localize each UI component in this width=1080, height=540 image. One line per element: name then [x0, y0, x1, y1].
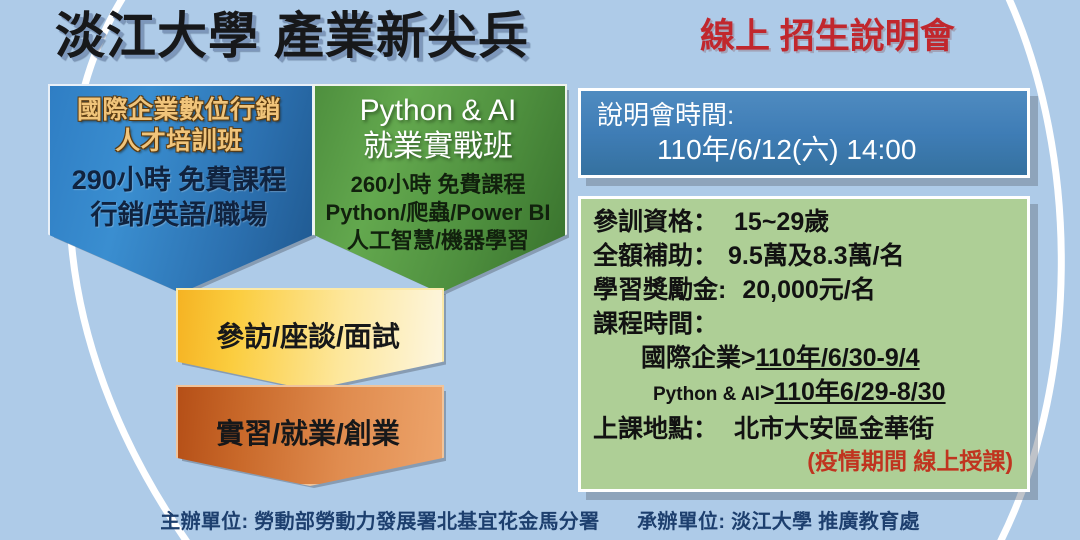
page-subtitle: 線上 招生說明會 — [700, 12, 1030, 62]
info-row-subsidy: 全額補助： 9.5萬及8.3萬/名 — [581, 239, 1027, 273]
program-body-line3: 人工智慧/機器學習 — [326, 227, 551, 255]
session-time-label: 說明會時間: — [597, 99, 1013, 132]
info-label: 學習獎勵金: — [593, 273, 726, 307]
course-date-row-python-ai: Python & AI > 110年6/29-8/30 — [581, 375, 1027, 412]
info-label: 全額補助： — [593, 239, 718, 273]
flow-step-label: 參訪/座談/面試 — [216, 320, 400, 354]
info-label: 參訓資格： — [593, 205, 718, 239]
program-body-line1: 260小時 免費課程 — [326, 171, 551, 199]
info-row-incentive: 學習獎勵金: 20,000元/名 — [581, 273, 1027, 307]
session-time-box: 說明會時間: 110年/6/12(六) 14:00 — [578, 88, 1030, 178]
poster-canvas: 淡江大學 產業新尖兵 線上 招生說明會 國際企業數位行銷 人才培訓班 290小時… — [0, 0, 1080, 540]
footer-organizer: 主辦單位: 勞動部勞動力發展署北基宜花金馬分署 — [160, 511, 599, 533]
program-info-box: 參訓資格： 15~29歲 全額補助： 9.5萬及8.3萬/名 學習獎勵金: 20… — [578, 196, 1030, 492]
info-row-course-time: 課程時間： — [581, 307, 1027, 341]
flow-step-label: 實習/就業/創業 — [216, 417, 400, 451]
flow-step-internship-employment-startup[interactable]: 實習/就業/創業 — [176, 385, 440, 482]
flow-step-visit-seminar-interview[interactable]: 參訪/座談/面試 — [176, 288, 440, 386]
program-body-line2: Python/爬蟲/Power BI — [326, 199, 551, 227]
info-label: 課程時間： — [593, 307, 718, 341]
info-row-location: 上課地點： 北市大安區金華街 — [581, 412, 1027, 446]
course-date-arrow: > — [741, 341, 756, 375]
info-note: (疫情期間 線上授課) — [581, 446, 1027, 476]
program-card-intl-business[interactable]: 國際企業數位行銷 人才培訓班 290小時 免費課程 行銷/英語/職場 — [48, 84, 310, 289]
course-date-program: 國際企業 — [641, 341, 741, 375]
info-value: 20,000元/名 — [742, 273, 875, 307]
footer: 主辦單位: 勞動部勞動力發展署北基宜花金馬分署 承辦單位: 淡江大學 推廣教育處 — [0, 505, 1080, 539]
info-value: 9.5萬及8.3萬/名 — [728, 239, 904, 273]
course-date-arrow: > — [760, 375, 775, 409]
info-value: 15~29歲 — [734, 205, 829, 239]
program-card-python-ai[interactable]: Python & AI 就業實戰班 260小時 免費課程 Python/爬蟲/P… — [313, 84, 563, 289]
info-label: 上課地點： — [593, 412, 718, 446]
course-date-range: 110年/6/30-9/4 — [756, 341, 920, 375]
program-heading-line2: 人才培訓班 — [77, 126, 281, 157]
info-row-eligibility: 參訓資格： 15~29歲 — [581, 205, 1027, 239]
page-title: 淡江大學 產業新尖兵 — [55, 2, 675, 70]
course-date-range: 110年6/29-8/30 — [775, 375, 946, 409]
course-date-program: Python & AI — [653, 378, 760, 412]
session-time-value: 110年/6/12(六) 14:00 — [597, 132, 1013, 168]
program-heading-line2: 就業實戰班 — [360, 129, 517, 165]
program-heading-line1: Python & AI — [360, 93, 517, 129]
course-date-row-intl-business: 國際企業 > 110年/6/30-9/4 — [581, 341, 1027, 375]
program-heading-line1: 國際企業數位行銷 — [77, 95, 281, 126]
program-body-line1: 290小時 免費課程 — [72, 163, 287, 198]
info-value: 北市大安區金華街 — [734, 412, 934, 446]
program-body-line2: 行銷/英語/職場 — [72, 198, 287, 233]
footer-host: 承辦單位: 淡江大學 推廣教育處 — [637, 511, 920, 533]
